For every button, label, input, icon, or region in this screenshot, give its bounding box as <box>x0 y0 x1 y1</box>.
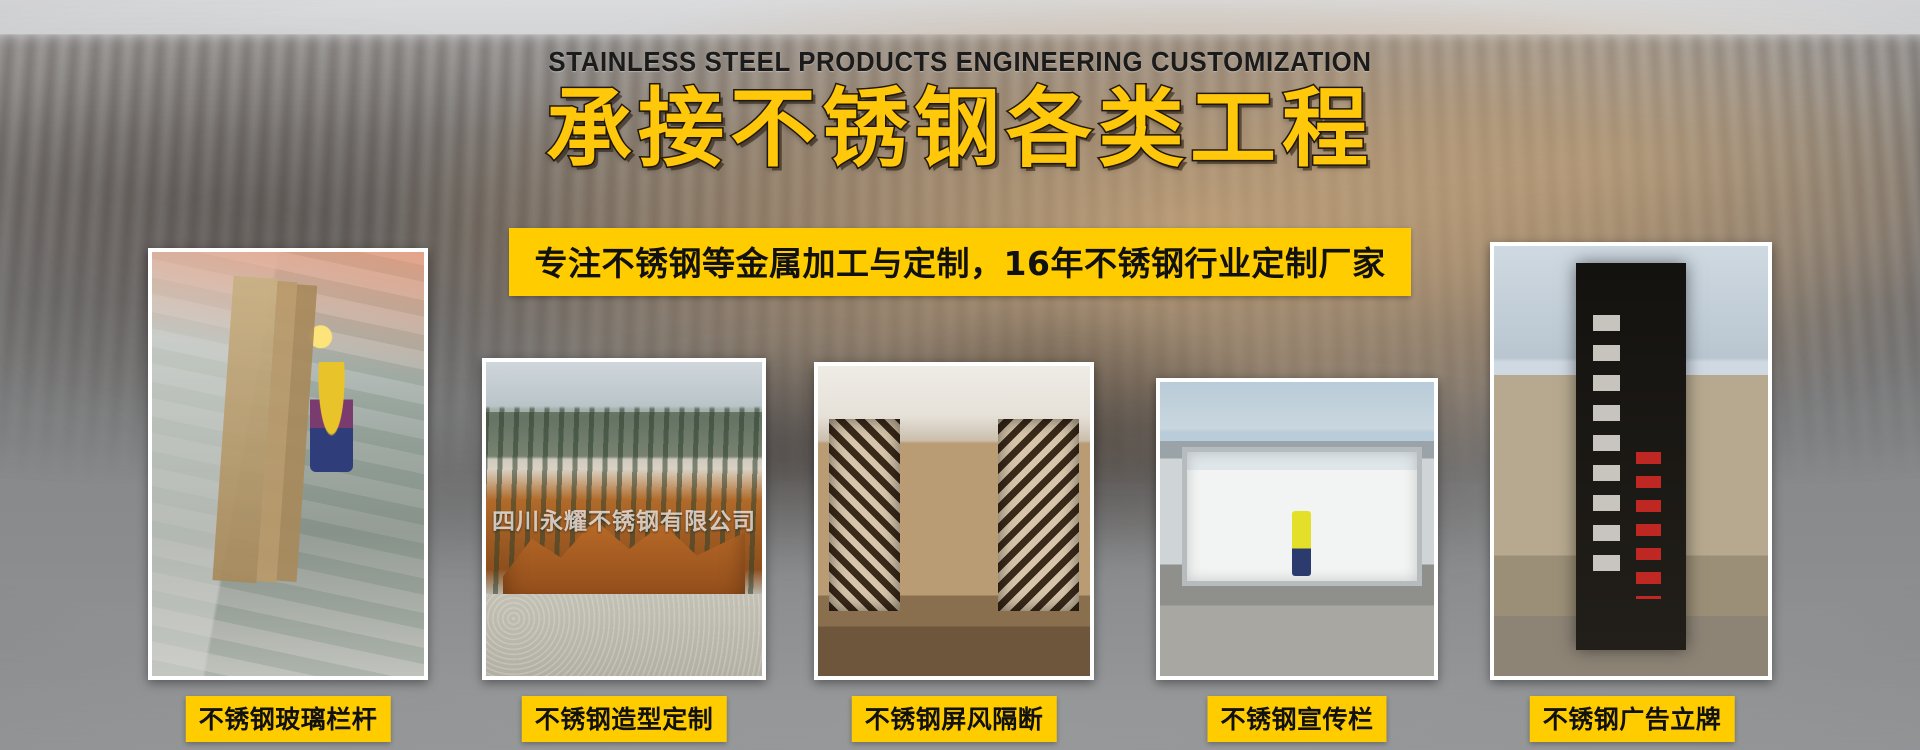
gallery-item-5[interactable] <box>1490 242 1772 680</box>
photo-frame-1 <box>148 248 428 680</box>
gallery-item-4[interactable] <box>1156 378 1438 680</box>
gallery-item-2[interactable]: 四川永耀不锈钢有限公司 <box>482 358 766 680</box>
banner-stage: STAINLESS STEEL PRODUCTS ENGINEERING CUS… <box>0 0 1920 750</box>
pylon-red-characters <box>1636 452 1661 598</box>
gallery-item-3[interactable] <box>814 362 1094 680</box>
gallery-caption-4: 不锈钢宣传栏 <box>1207 696 1386 742</box>
gallery-caption-1: 不锈钢玻璃栏杆 <box>186 696 391 742</box>
product-photo-screen-partition <box>818 366 1090 676</box>
gallery-caption-2: 不锈钢造型定制 <box>522 696 727 742</box>
product-photo-pylon-sign <box>1494 246 1768 676</box>
product-photo-glass-balustrade <box>152 252 424 676</box>
product-gallery: 不锈钢玻璃栏杆 四川永耀不锈钢有限公司 不锈钢造型定制 不锈钢屏风隔断 不锈钢宣… <box>0 0 1920 750</box>
photo-frame-3 <box>814 362 1094 680</box>
product-photo-corten-sculpture <box>486 362 762 676</box>
photo-frame-4 <box>1156 378 1438 680</box>
gallery-caption-3: 不锈钢屏风隔断 <box>852 696 1057 742</box>
gallery-caption-5: 不锈钢广告立牌 <box>1530 696 1735 742</box>
product-photo-bulletin-board <box>1160 382 1434 676</box>
photo-frame-5 <box>1490 242 1772 680</box>
gallery-item-1[interactable] <box>148 248 428 680</box>
photo-frame-2: 四川永耀不锈钢有限公司 <box>482 358 766 680</box>
